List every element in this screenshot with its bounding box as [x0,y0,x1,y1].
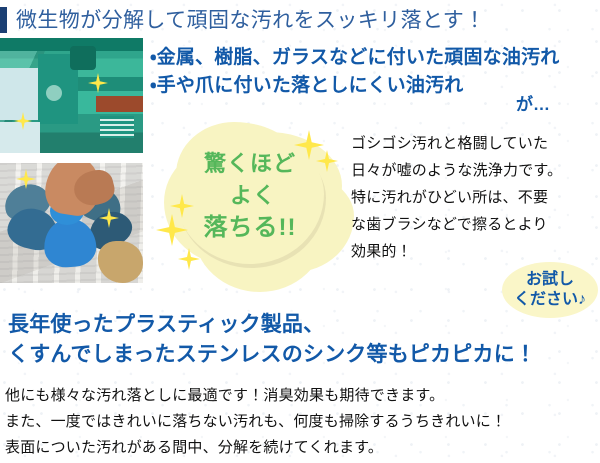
footer-line: 表面についた汚れがある間中、分解を続けてくれます。 [5,435,595,461]
page-title: 微生物が分解して頑固な汚れをスッキリ落とす！ [16,7,486,33]
cloud-badge-line: 驚くほど [176,148,324,180]
advertisement-page: 微生物が分解して頑固な汚れをスッキリ落とす！ ・金属、樹脂、ガラスなどに付いた頑… [0,0,600,463]
try-it-badge-line: ください♪ [514,290,586,310]
machine-fitting [70,46,96,70]
description-line: な歯ブラシなどで擦るとより [351,211,595,238]
machine-panel-light [0,68,42,120]
description-line: ゴシゴシ汚れと格闘していた [351,130,595,157]
sparkle-icon [88,73,108,93]
footer-line: また、一度ではきれいに落ちない汚れも、何度も掃除するうちきれいに！ [5,409,595,435]
description-paragraph: ゴシゴシ汚れと格闘していた 日々が嘘のような洗浄力です。 特に汚れがひどい所は、… [351,130,595,265]
cloud-badge: 驚くほど よく 落ちる!! [158,126,348,286]
cloud-badge-line: 落ちる!! [176,212,324,244]
machine-vent [100,116,134,138]
cloud-badge-text: 驚くほど よく 落ちる!! [176,148,324,244]
secondary-headline: 長年使ったプラスティック製品、 くすんでしまったステンレスのシンク等もピカピカに… [8,310,600,370]
machine-base-panel [0,122,40,153]
bullet-list: ・金属、樹脂、ガラスなどに付いた頑固な油汚れ ・手や爪に付いた落としにくい油汚れ [150,44,510,100]
sparkle-icon [178,248,200,270]
description-line: 特に汚れがひどい所は、不要 [351,184,595,211]
bullet-item: ・手や爪に付いた落としにくい油汚れ [150,72,510,100]
cloud-badge-line: よく [176,180,324,212]
machine-knob [46,85,62,101]
industrial-machine-photo [0,38,143,153]
fan-blade-cleaning-photo [0,163,143,283]
bullet-item: ・金属、樹脂、ガラスなどに付いた頑固な油汚れ [150,44,510,72]
machine-rust-strip [96,96,143,112]
footer-paragraph: 他にも様々な汚れ落としに最適です！消臭効果も期待できます。 また、一度ではきれい… [5,383,595,461]
header-accent-bar [0,7,7,33]
headline-line: くすんでしまったステンレスのシンク等もピカピカに！ [8,340,600,370]
bullet-trailing-text: が… [516,90,550,115]
page-header: 微生物が分解して頑固な汚れをスッキリ落とす！ [0,4,600,36]
description-line: 効果的！ [351,238,595,265]
description-line: 日々が嘘のような洗浄力です。 [351,157,595,184]
cleaning-rag [98,241,143,283]
headline-line: 長年使ったプラスティック製品、 [8,310,600,340]
footer-line: 他にも様々な汚れ落としに最適です！消臭効果も期待できます。 [5,383,595,409]
try-it-badge-line: お試し [526,270,574,290]
